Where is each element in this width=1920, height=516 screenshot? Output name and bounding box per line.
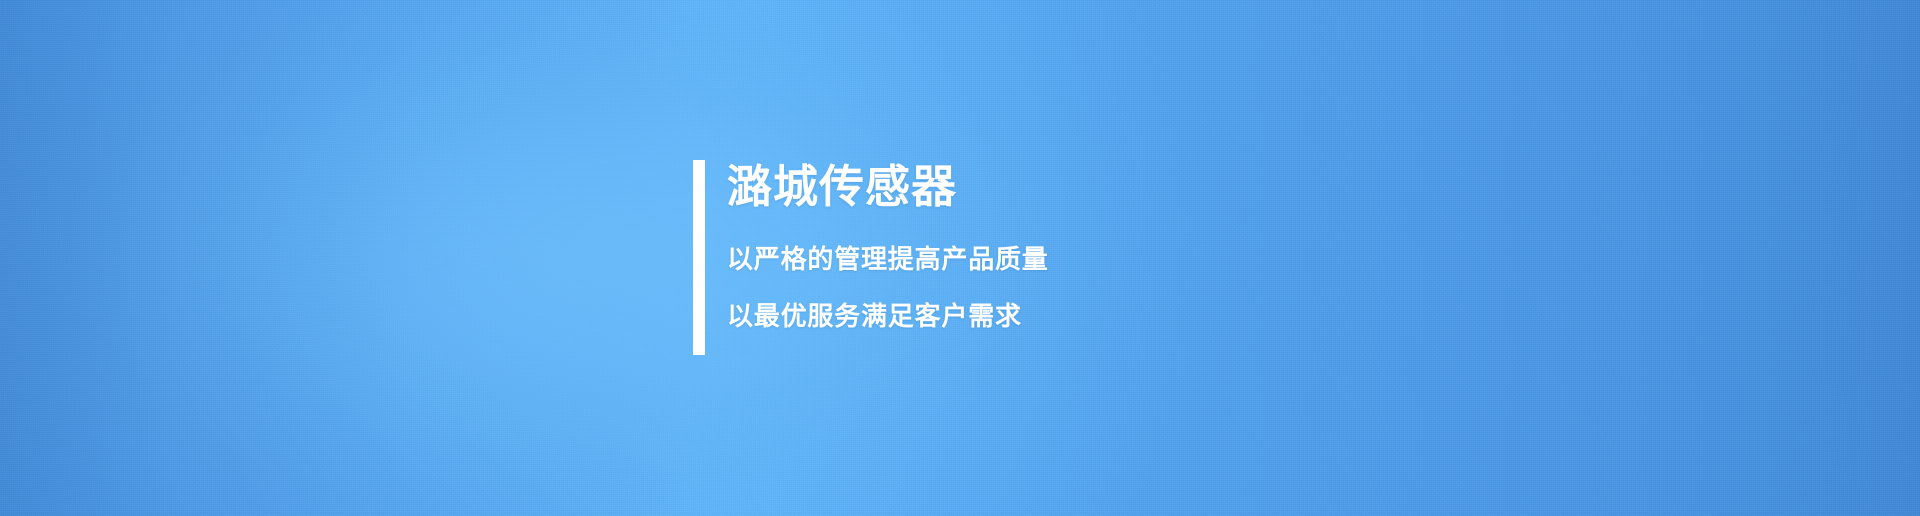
hero-text-block: 潞城传感器 以严格的管理提高产品质量 以最优服务满足客户需求 [727,160,1049,355]
hero-subtitle-line-1: 以严格的管理提高产品质量 [727,245,1049,275]
hero-content: 潞城传感器 以严格的管理提高产品质量 以最优服务满足客户需求 [693,160,1049,355]
hero-banner: 潞城传感器 以严格的管理提高产品质量 以最优服务满足客户需求 [0,0,1920,516]
page-title: 潞城传感器 [727,162,1049,212]
hero-subtitle-line-2: 以最优服务满足客户需求 [727,302,1049,332]
vertical-accent-bar [693,160,705,355]
